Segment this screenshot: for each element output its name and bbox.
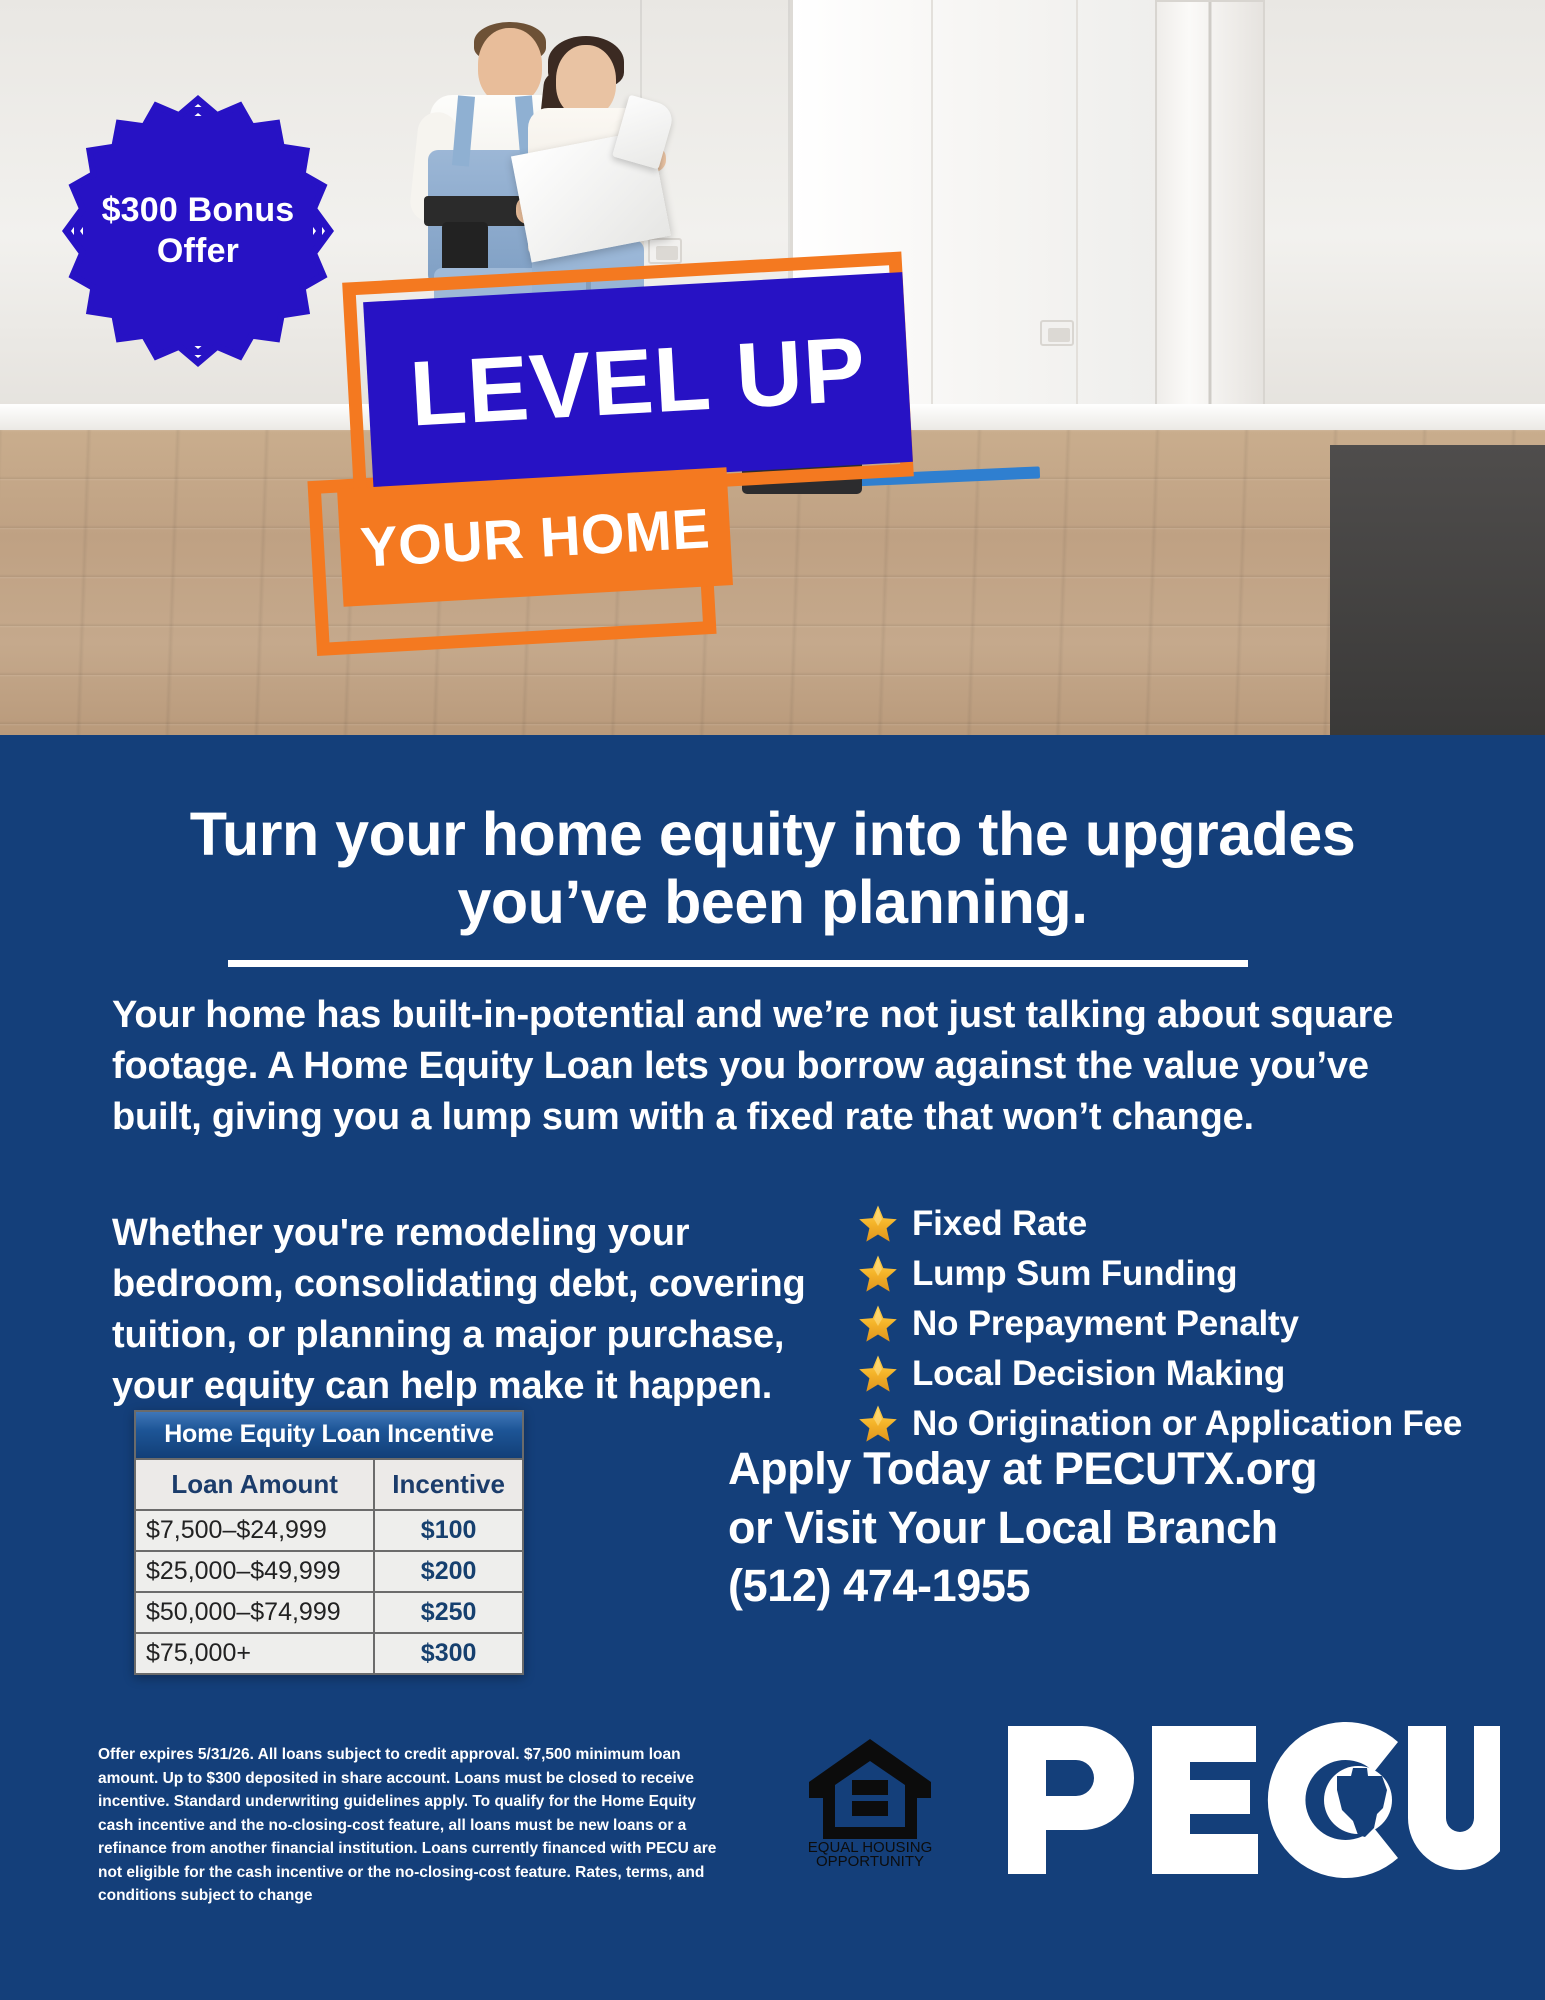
equal-housing-icon: EQUAL HOUSING OPPORTUNITY [805, 1735, 935, 1870]
level-up-sign: LEVEL UP YOUR HOME [300, 255, 940, 655]
wall-outlet [1040, 320, 1074, 346]
leaning-door-panel [1155, 0, 1265, 470]
badge-text: $300 Bonus Offer [62, 95, 334, 367]
floor-dark-patch [1330, 445, 1545, 735]
incentive-table-title: Home Equity Loan Incentive [135, 1411, 523, 1459]
feature-item: Fixed Rate [858, 1201, 1488, 1246]
cell-incentive: $250 [374, 1592, 523, 1633]
table-row: $25,000–$49,999$200 [135, 1551, 523, 1592]
equal-housing-logo: EQUAL HOUSING OPPORTUNITY [805, 1735, 935, 1870]
flyer-page: $300 Bonus Offer LEVEL UP YOUR HOME Turn… [0, 0, 1545, 2000]
incentive-table: Home Equity Loan Incentive Loan Amount I… [134, 1410, 524, 1675]
feature-label: Local Decision Making [912, 1354, 1285, 1394]
headline-divider [228, 960, 1248, 967]
feature-item: Local Decision Making [858, 1351, 1488, 1396]
feature-label: Lump Sum Funding [912, 1254, 1237, 1294]
star-icon [858, 1254, 898, 1294]
star-icon [858, 1204, 898, 1244]
feature-item: Lump Sum Funding [858, 1251, 1488, 1296]
pecu-logo [1000, 1720, 1500, 1880]
feature-label: No Prepayment Penalty [912, 1304, 1299, 1344]
cell-loan-amount: $7,500–$24,999 [135, 1510, 374, 1551]
cta-phone[interactable]: (512) 474-1955 [728, 1557, 1488, 1616]
star-icon [858, 1354, 898, 1394]
star-icon [858, 1404, 898, 1444]
disclaimer-text: Offer expires 5/31/26. All loans subject… [98, 1743, 718, 1908]
page-headline: Turn your home equity into the upgrades … [105, 800, 1440, 937]
pecu-wordmark [1000, 1720, 1500, 1880]
sign-top-label: LEVEL UP [363, 272, 913, 492]
cell-loan-amount: $25,000–$49,999 [135, 1551, 374, 1592]
sign-bottom-label: YOUR HOME [337, 467, 733, 607]
content-area: Turn your home equity into the upgrades … [0, 735, 1545, 2000]
cell-incentive: $100 [374, 1510, 523, 1551]
woman-head [556, 45, 616, 117]
cabinet-door [933, 0, 1078, 415]
cell-incentive: $300 [374, 1633, 523, 1674]
cta-line-2: or Visit Your Local Branch [728, 1499, 1488, 1558]
badge-line-1: $300 Bonus [102, 190, 295, 231]
column-header-loan-amount: Loan Amount [135, 1459, 374, 1510]
call-to-action: Apply Today at PECUTX.org or Visit Your … [728, 1440, 1488, 1616]
table-row: $7,500–$24,999$100 [135, 1510, 523, 1551]
column-header-incentive: Incentive [374, 1459, 523, 1510]
feature-label: No Origination or Application Fee [912, 1404, 1462, 1444]
feature-item: No Prepayment Penalty [858, 1301, 1488, 1346]
badge-line-2: Offer [157, 231, 239, 272]
feature-list: Fixed Rate Lump Sum Funding No Prepaymen… [858, 1201, 1488, 1451]
star-icon [858, 1304, 898, 1344]
use-cases-paragraph: Whether you're remodeling your bedroom, … [112, 1208, 812, 1412]
feature-label: Fixed Rate [912, 1204, 1087, 1244]
table-row: $50,000–$74,999$250 [135, 1592, 523, 1633]
cell-incentive: $200 [374, 1551, 523, 1592]
cta-line-1: Apply Today at PECUTX.org [728, 1440, 1488, 1499]
man-head [478, 28, 542, 104]
cell-loan-amount: $75,000+ [135, 1633, 374, 1674]
intro-paragraph: Your home has built-in-potential and we’… [112, 990, 1412, 1143]
cell-loan-amount: $50,000–$74,999 [135, 1592, 374, 1633]
bonus-offer-badge: $300 Bonus Offer [62, 95, 334, 367]
panel-hinge [1209, 2, 1212, 468]
table-row: $75,000+$300 [135, 1633, 523, 1674]
svg-text:OPPORTUNITY: OPPORTUNITY [816, 1853, 924, 1870]
